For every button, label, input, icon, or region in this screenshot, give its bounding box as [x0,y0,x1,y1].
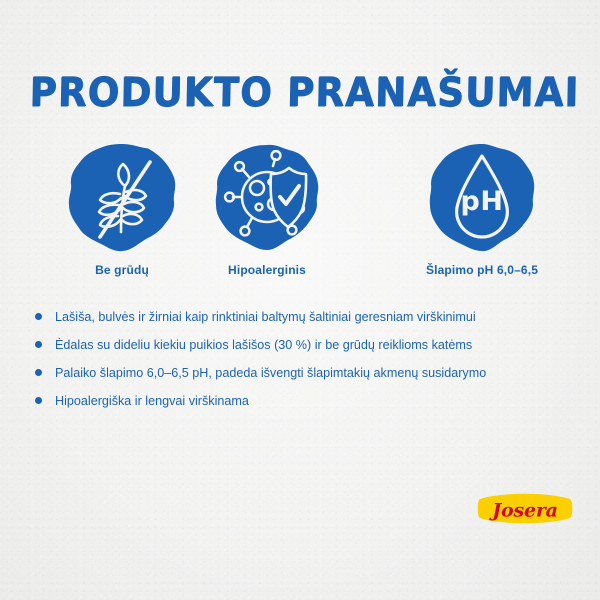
josera-logo: Josera [474,485,576,532]
list-item-text: Palaiko šlapimo 6,0–6,5 pH, padeda išven… [55,363,486,382]
benefit-badge-urine-ph: pH Šlapimo pH 6,0–6,5 [407,142,557,277]
benefit-badge-row: Be grūdų [0,142,600,287]
benefit-bullet-list: Lašiša, bulvės ir žirniai kaip rinktinia… [30,307,575,419]
grain-free-icon [66,142,178,254]
benefit-badge-hypoallergenic: Hipoalerginis [192,142,342,277]
list-item: Palaiko šlapimo 6,0–6,5 pH, padeda išven… [30,363,575,391]
benefit-badge-grain-free: Be grūdų [47,142,197,277]
page-title: PRODUKTO PRANAŠUMAI [29,72,580,114]
hypoallergenic-shield-icon [211,142,323,254]
list-item-text: Hipoalergiška ir lengvai virškinama [55,391,249,410]
bullet-dot-icon [35,341,42,348]
list-item-text: Lašiša, bulvės ir žirniai kaip rinktinia… [55,307,476,326]
ph-icon-text: pH [461,186,504,217]
logo-wordmark: Josera [489,500,558,522]
benefit-badge-label: Be grūdų [47,263,197,277]
bullet-dot-icon [35,369,42,376]
benefit-badge-label: Šlapimo pH 6,0–6,5 [407,263,557,277]
list-item-text: Ėdalas su dideliu kiekiu puikios lašišos… [55,335,472,354]
list-item: Lašiša, bulvės ir žirniai kaip rinktinia… [30,307,575,335]
ph-droplet-icon: pH [426,142,538,254]
list-item: Hipoalergiška ir lengvai virškinama [30,391,575,419]
bullet-dot-icon [35,313,42,320]
bullet-dot-icon [35,397,42,404]
benefit-badge-label: Hipoalerginis [192,263,342,277]
list-item: Ėdalas su dideliu kiekiu puikios lašišos… [30,335,575,363]
product-benefits-poster: PRODUKTO PRANAŠUMAI [0,0,600,600]
